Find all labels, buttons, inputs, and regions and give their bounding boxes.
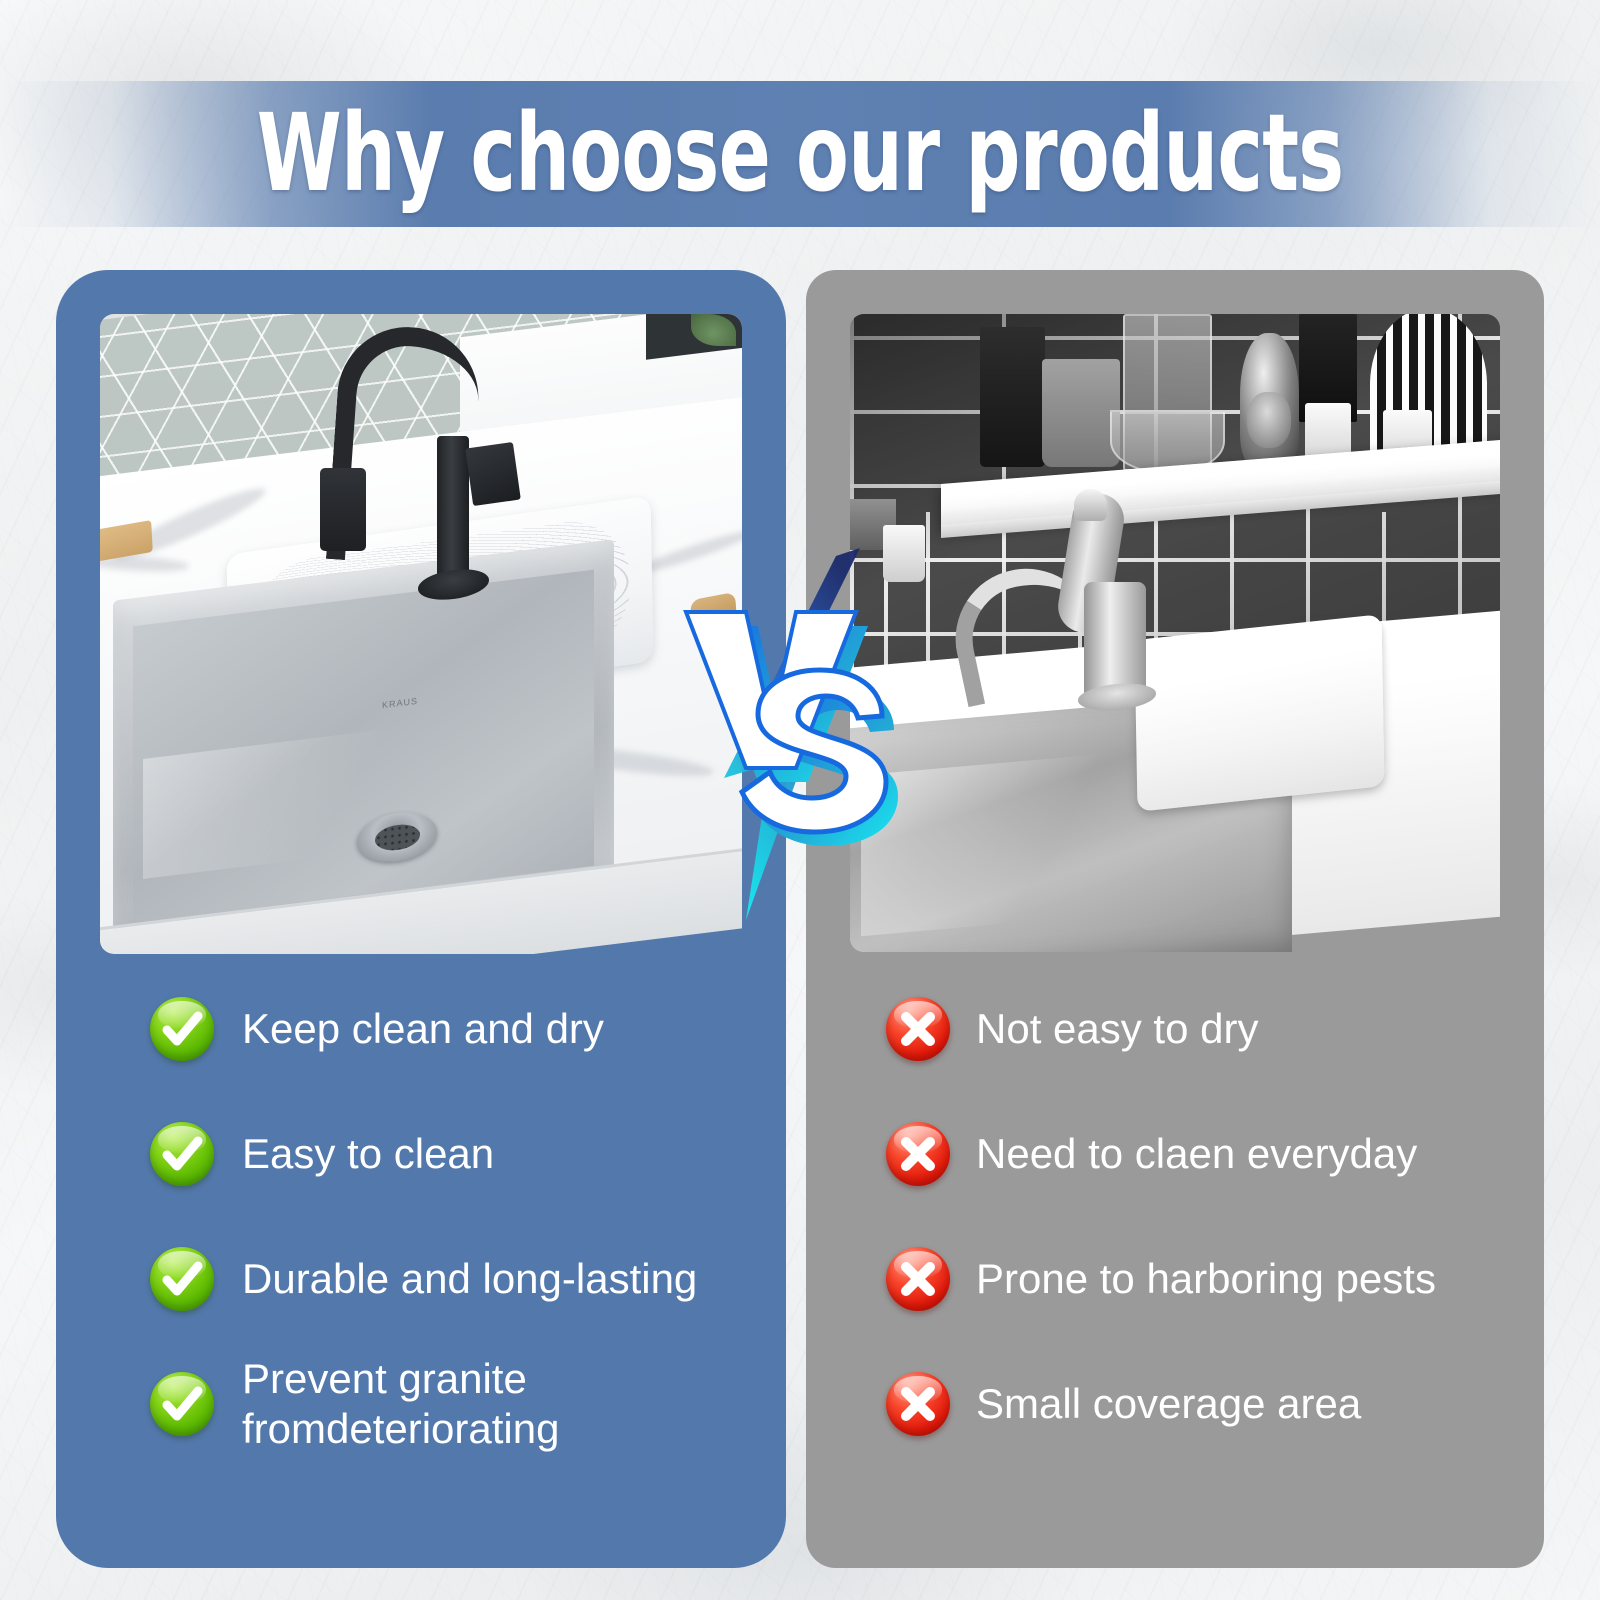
list-item: Durable and long-lasting bbox=[56, 1225, 776, 1332]
product-photo-good: KRAUS bbox=[100, 314, 742, 954]
list-item-label: Prevent granite fromdeteriorating bbox=[242, 1354, 559, 1452]
list-item: Prevent granite fromdeteriorating bbox=[56, 1350, 776, 1457]
page-title: Why choose our products bbox=[257, 101, 1343, 208]
title-banner: Why choose our products bbox=[0, 81, 1600, 227]
list-item: Not easy to dry bbox=[806, 975, 1536, 1082]
x-circle-icon bbox=[886, 1372, 950, 1436]
list-item: Prone to harboring pests bbox=[806, 1225, 1536, 1332]
check-circle-icon bbox=[150, 1247, 214, 1311]
list-item-label: Durable and long-lasting bbox=[242, 1254, 697, 1303]
check-circle-icon bbox=[150, 1122, 214, 1186]
list-item: Small coverage area bbox=[806, 1350, 1536, 1457]
list-item-label: Need to claen everyday bbox=[976, 1129, 1417, 1178]
list-item: Easy to clean bbox=[56, 1100, 776, 1207]
list-item-label: Prone to harboring pests bbox=[976, 1254, 1436, 1303]
list-item-label: Not easy to dry bbox=[976, 1004, 1258, 1053]
list-item-label-line1: Prevent granite bbox=[242, 1354, 559, 1403]
x-circle-icon bbox=[886, 1247, 950, 1311]
check-circle-icon bbox=[150, 997, 214, 1061]
list-item: Keep clean and dry bbox=[56, 975, 776, 1082]
list-item-label: Keep clean and dry bbox=[242, 1004, 604, 1053]
x-circle-icon bbox=[886, 997, 950, 1061]
check-circle-icon bbox=[150, 1372, 214, 1436]
x-circle-icon bbox=[886, 1122, 950, 1186]
list-item-label: Easy to clean bbox=[242, 1129, 494, 1178]
benefits-list: Keep clean and dry Easy to clean Durable… bbox=[56, 975, 776, 1475]
list-item-label: Small coverage area bbox=[976, 1379, 1361, 1428]
list-item: Need to claen everyday bbox=[806, 1100, 1536, 1207]
drawbacks-list: Not easy to dry Need to claen everyday P… bbox=[806, 975, 1536, 1475]
list-item-label-line2: fromdeteriorating bbox=[242, 1404, 559, 1453]
product-photo-bad bbox=[850, 314, 1500, 952]
